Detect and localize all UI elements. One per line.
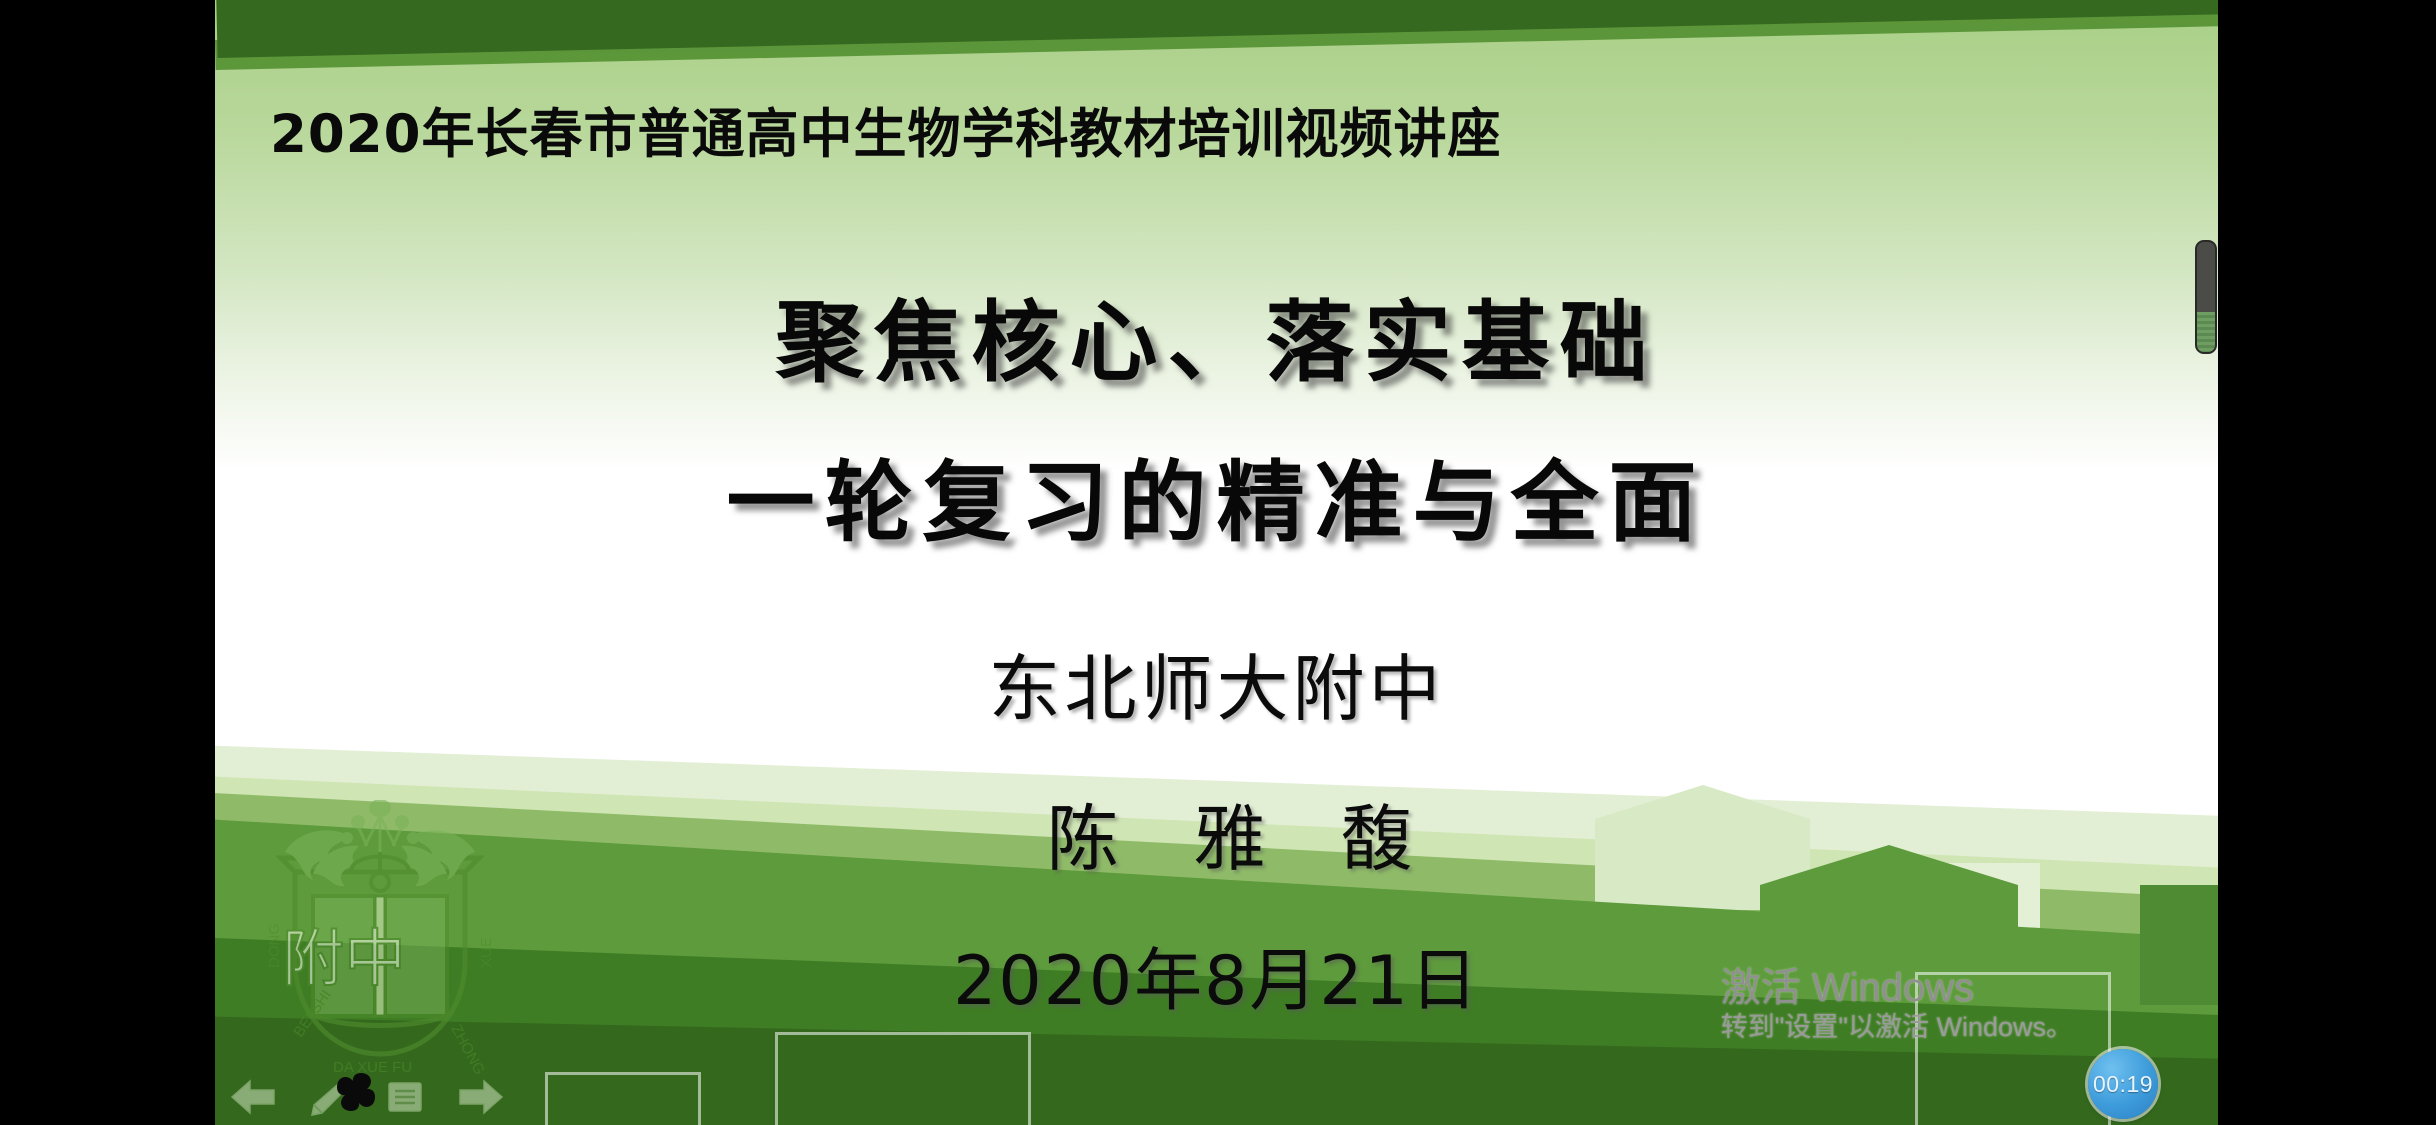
building-green-2 xyxy=(2140,885,2218,1005)
arrow-right-icon[interactable] xyxy=(458,1077,504,1117)
building-outline-1 xyxy=(1915,972,2111,1125)
slide-header-line: 2020年长春市普通高中生物学科教材培训视频讲座 xyxy=(270,92,1502,168)
letterbox-right xyxy=(2218,0,2436,1125)
building-outline-3 xyxy=(545,1072,701,1125)
emblem-pinyin-right2: ZHONG xyxy=(447,1022,487,1078)
slide-title-line-1: 聚焦核心、落实基础 xyxy=(215,272,2218,399)
recording-timer-badge[interactable]: 00:19 xyxy=(2088,1049,2158,1119)
arrow-left-icon[interactable] xyxy=(230,1077,276,1117)
letterbox-left xyxy=(0,0,215,1125)
volume-slider-fill xyxy=(2197,312,2215,352)
busy-pinwheel-cursor xyxy=(325,1061,387,1123)
timer-value: 00:19 xyxy=(2093,1071,2153,1098)
slide-title-line-2: 一轮复习的精准与全面 xyxy=(215,432,2218,559)
slide-top-gradient xyxy=(215,0,2218,470)
menu-icon[interactable] xyxy=(382,1077,428,1117)
slide-school-name: 东北师大附中 xyxy=(215,630,2218,735)
building-outline-2 xyxy=(775,1032,1031,1125)
screen-root: 附中 DONG XUE BEI SHI ZHONG DA XUE FU 2020… xyxy=(0,0,2436,1125)
volume-slider[interactable] xyxy=(2195,240,2217,354)
slide-canvas[interactable]: 附中 DONG XUE BEI SHI ZHONG DA XUE FU 2020… xyxy=(215,0,2218,1125)
